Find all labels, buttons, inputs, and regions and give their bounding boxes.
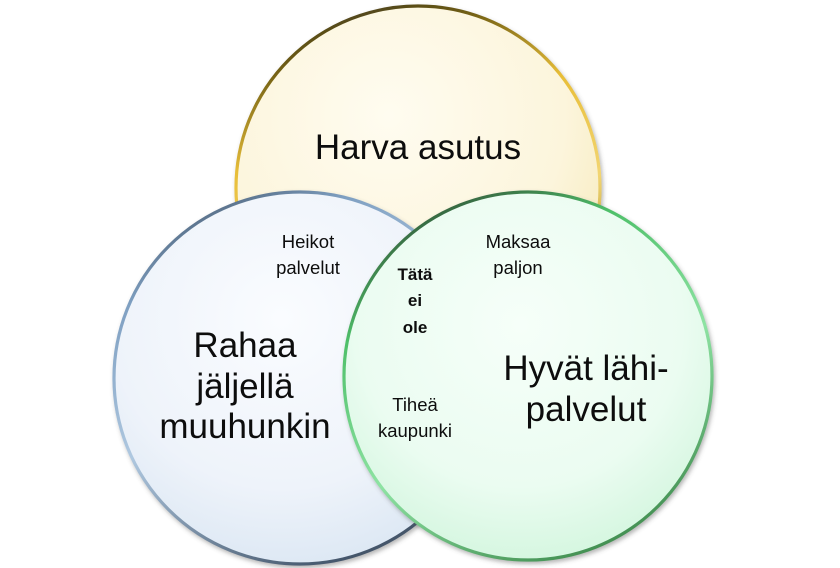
venn-diagram: Harva asutus Rahaa jäljellä muuhunkin Hy… (0, 0, 840, 568)
venn-circles-graphic (0, 0, 840, 568)
circle-right-hyvat-lahipalvelut (344, 192, 712, 560)
